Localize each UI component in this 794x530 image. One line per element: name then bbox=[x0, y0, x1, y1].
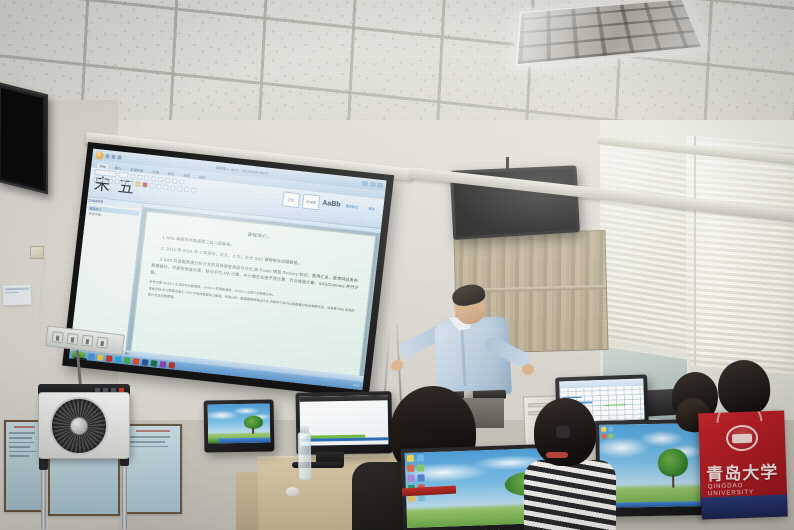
font-color-icon[interactable] bbox=[142, 182, 148, 188]
line-spacing-icon[interactable] bbox=[177, 186, 183, 192]
window-controls[interactable] bbox=[362, 181, 383, 188]
taskbar-clock: 10:42 bbox=[353, 383, 360, 388]
grow-font-icon[interactable] bbox=[130, 173, 136, 179]
instructor-ear bbox=[478, 302, 485, 312]
pdf-icon[interactable] bbox=[169, 362, 176, 369]
minimize-icon[interactable] bbox=[362, 181, 369, 187]
bold-icon[interactable] bbox=[93, 177, 99, 183]
wallpaper-tree bbox=[658, 448, 689, 486]
wall-mounted-monitor[interactable] bbox=[0, 82, 48, 195]
spreadsheet-header bbox=[559, 379, 643, 388]
taskbar-strip bbox=[300, 437, 388, 442]
blind-daylight-glow bbox=[600, 144, 700, 355]
blind-cord[interactable] bbox=[694, 136, 696, 366]
quick-access-toolbar[interactable] bbox=[105, 153, 121, 159]
xp-start-button[interactable] bbox=[208, 438, 219, 443]
emblem-inner bbox=[732, 433, 752, 443]
poster-line bbox=[129, 446, 168, 448]
sort-icon[interactable] bbox=[179, 179, 185, 185]
chrome-icon[interactable] bbox=[133, 358, 140, 365]
student-striped-top-body bbox=[524, 460, 616, 530]
align-left-icon[interactable] bbox=[149, 183, 155, 189]
plastic-water-bottle[interactable] bbox=[298, 432, 312, 480]
sas-icon[interactable] bbox=[160, 361, 167, 368]
strikethrough-icon[interactable] bbox=[114, 179, 120, 185]
find-button[interactable]: 查找 bbox=[362, 200, 381, 217]
classroom-scene: 课程简介.docx - Microsoft Word 开始 插入 页面布局 引用… bbox=[0, 0, 794, 530]
tree-trunk bbox=[252, 428, 254, 434]
venetian-blinds-right[interactable] bbox=[686, 135, 794, 375]
subscript-icon[interactable] bbox=[121, 180, 127, 186]
poster-line bbox=[129, 441, 165, 443]
redo-icon[interactable] bbox=[117, 155, 121, 159]
shortcut-icon[interactable] bbox=[417, 464, 424, 471]
desktop-icon-grid[interactable] bbox=[601, 427, 613, 439]
power-socket[interactable] bbox=[81, 335, 93, 347]
word-icon[interactable] bbox=[142, 359, 149, 366]
blind-daylight-glow bbox=[686, 135, 794, 375]
align-center-icon[interactable] bbox=[156, 184, 162, 190]
instructor-right-hand bbox=[522, 364, 534, 375]
recycle-bin-icon[interactable] bbox=[601, 434, 606, 439]
sas-icon[interactable] bbox=[407, 475, 414, 482]
recycle-bin-icon[interactable] bbox=[407, 465, 414, 472]
bag-body: 青岛大学 QINGDAO UNIVERSITY bbox=[698, 411, 788, 520]
venetian-blinds-left[interactable] bbox=[600, 144, 700, 355]
monitor-left-rear[interactable] bbox=[204, 399, 275, 452]
poster-line bbox=[9, 446, 30, 448]
shading-icon[interactable] bbox=[184, 187, 190, 193]
qingdao-university-tote-bag[interactable]: 青岛大学 QINGDAO UNIVERSITY bbox=[700, 412, 786, 518]
app-title-bar bbox=[300, 395, 388, 401]
notice-text-line bbox=[5, 288, 29, 290]
framed-wall-poster-right bbox=[124, 424, 182, 514]
monitor-screen[interactable] bbox=[208, 403, 271, 443]
poster-line bbox=[9, 442, 34, 444]
pull-down-projection-screen[interactable]: 课程简介.docx - Microsoft Word 开始 插入 页面布局 引用… bbox=[62, 142, 394, 399]
power-socket[interactable] bbox=[52, 331, 64, 343]
poster-line bbox=[9, 437, 32, 439]
poster-line bbox=[129, 436, 170, 438]
data-row-highlight bbox=[604, 404, 626, 406]
posted-paper-notice bbox=[3, 285, 32, 306]
wallpaper-tree bbox=[244, 415, 263, 433]
explorer-icon[interactable] bbox=[97, 354, 104, 361]
superscript-icon[interactable] bbox=[128, 181, 134, 187]
poster-title-bar bbox=[14, 426, 35, 428]
folder-icon[interactable] bbox=[124, 357, 131, 364]
highlight-color-icon[interactable] bbox=[135, 181, 141, 187]
style-heading-sample[interactable]: AaBb bbox=[322, 200, 341, 209]
folder-icon[interactable] bbox=[601, 427, 606, 432]
blank-white-document bbox=[300, 395, 389, 446]
poster-line bbox=[9, 432, 35, 434]
poster-line bbox=[9, 451, 36, 453]
excel-icon[interactable] bbox=[151, 360, 158, 367]
change-styles-button[interactable]: 更改样式 bbox=[343, 198, 362, 215]
poster-line bbox=[9, 455, 29, 457]
lanyard bbox=[546, 452, 568, 458]
indent-increase-icon[interactable] bbox=[172, 178, 178, 184]
eyeglasses-icon bbox=[556, 426, 570, 438]
folder-icon[interactable] bbox=[407, 455, 414, 462]
undo-icon[interactable] bbox=[111, 154, 115, 158]
indent-decrease-icon[interactable] bbox=[165, 177, 171, 183]
university-emblem-icon bbox=[726, 424, 759, 451]
tv-screen bbox=[1, 88, 43, 188]
computer-mouse[interactable] bbox=[286, 487, 299, 496]
bullets-icon[interactable] bbox=[144, 175, 150, 181]
font-name-box[interactable]: 宋体 (中文正文) bbox=[94, 169, 117, 177]
tree-trunk bbox=[672, 475, 675, 488]
borders-icon[interactable] bbox=[191, 187, 197, 193]
browser-icon[interactable] bbox=[88, 353, 95, 360]
justify-icon[interactable] bbox=[170, 185, 176, 191]
save-icon[interactable] bbox=[105, 153, 109, 157]
tree-crown bbox=[244, 415, 263, 428]
style-no-spacing[interactable]: 无间隔 bbox=[301, 194, 320, 211]
shrink-font-icon[interactable] bbox=[137, 174, 143, 180]
style-normal[interactable]: 正文 bbox=[282, 191, 301, 208]
word-icon[interactable] bbox=[417, 474, 424, 481]
bag-bottom-band bbox=[701, 494, 788, 519]
align-right-icon[interactable] bbox=[163, 184, 169, 190]
office-orb-icon[interactable] bbox=[95, 150, 104, 159]
bag-handle[interactable] bbox=[716, 411, 763, 423]
computer-icon[interactable] bbox=[417, 454, 424, 461]
font-size-box[interactable]: 五号 bbox=[118, 171, 129, 178]
notice-text-line bbox=[5, 291, 19, 293]
media-icon[interactable] bbox=[106, 355, 113, 362]
system-tray[interactable]: 10:42 bbox=[353, 383, 360, 388]
multilevel-list-icon[interactable] bbox=[158, 176, 164, 182]
numbering-icon[interactable] bbox=[151, 176, 157, 182]
qq-icon[interactable] bbox=[115, 356, 122, 363]
power-socket[interactable] bbox=[66, 333, 78, 345]
poster-title-bar bbox=[136, 430, 170, 432]
italic-icon[interactable] bbox=[100, 178, 106, 184]
computer-icon[interactable] bbox=[608, 427, 613, 432]
underline-icon[interactable] bbox=[107, 178, 113, 184]
maximize-icon[interactable] bbox=[369, 182, 376, 188]
close-icon[interactable] bbox=[377, 182, 384, 188]
wall-junction-box bbox=[30, 246, 44, 259]
tree-crown bbox=[658, 448, 688, 476]
power-socket[interactable] bbox=[96, 337, 108, 349]
shortcut-icon[interactable] bbox=[608, 434, 613, 439]
fan-hub bbox=[70, 417, 88, 435]
monitor-screen[interactable] bbox=[300, 395, 389, 446]
